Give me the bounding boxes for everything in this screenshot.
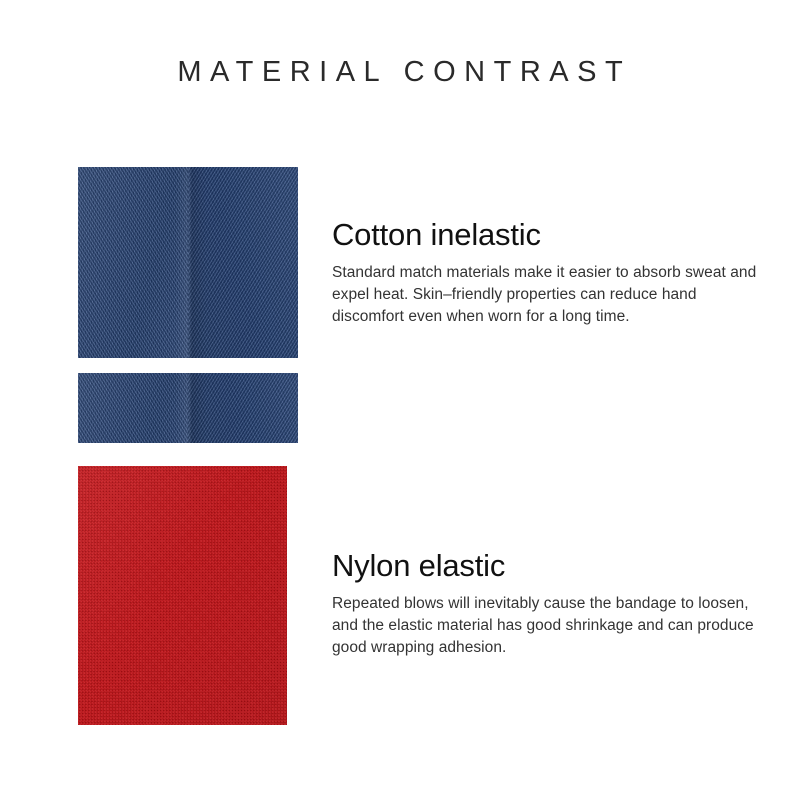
section-nylon: Nylon elastic Repeated blows will inevit…: [332, 547, 772, 659]
swatch-cotton-blue-large: [78, 167, 298, 358]
section-nylon-heading: Nylon elastic: [332, 547, 772, 585]
section-nylon-body: Repeated blows will inevitably cause the…: [332, 593, 772, 659]
section-cotton-body: Standard match materials make it easier …: [332, 262, 772, 328]
page-title: MATERIAL CONTRAST: [0, 56, 800, 89]
section-cotton-heading: Cotton inelastic: [332, 216, 772, 254]
section-cotton: Cotton inelastic Standard match material…: [332, 216, 772, 328]
swatch-cotton-blue-strip: [78, 373, 298, 443]
swatch-nylon-red: [78, 466, 287, 725]
